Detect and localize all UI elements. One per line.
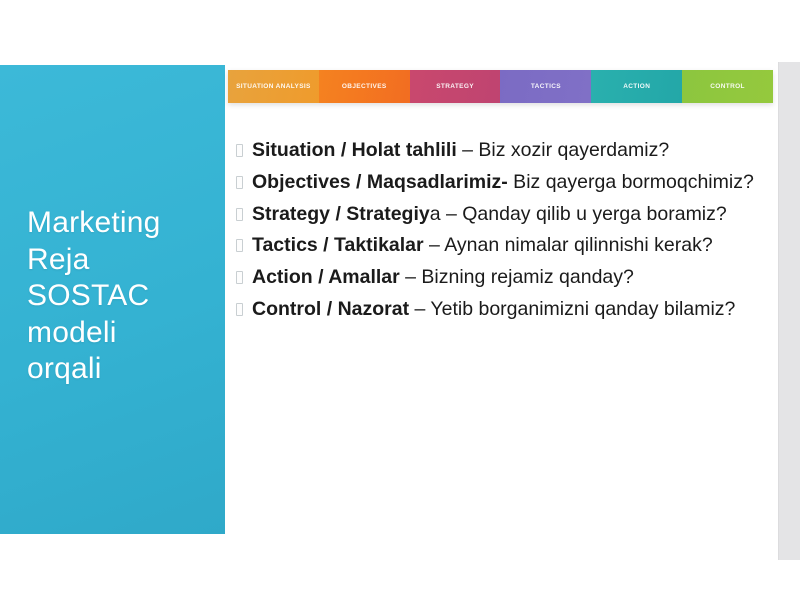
right-side-strip <box>778 62 800 560</box>
ribbon-segment-tactics: TACTICS <box>500 70 591 103</box>
ribbon-segment-strategy: STRATEGY <box>410 70 501 103</box>
ribbon-segment-label: CONTROL <box>710 83 745 90</box>
list-item-text: Strategy / Strategiya – Qanday qilib u y… <box>252 202 774 227</box>
list-item-term: Situation / Holat tahlili <box>252 139 457 161</box>
bullet-marker-icon <box>236 176 243 189</box>
list-item-description: Biz qayerga bormoqchimiz? <box>508 171 754 193</box>
bullet-marker-icon <box>236 271 243 284</box>
list-item-term: Control / Nazorat <box>252 298 409 320</box>
ribbon-segment-label: OBJECTIVES <box>342 83 387 90</box>
slide-title-panel: Marketing Reja SOSTAC modeli orqali <box>0 65 225 534</box>
list-item-description: – Aynan nimalar qilinnishi kerak? <box>424 234 713 256</box>
list-item-text: Control / Nazorat – Yetib borganimizni q… <box>252 297 774 322</box>
presentation-slide: Marketing Reja SOSTAC modeli orqali SITU… <box>0 0 800 600</box>
list-item: Tactics / Taktikalar – Aynan nimalar qil… <box>236 233 774 258</box>
ribbon-segment-objectives: OBJECTIVES <box>319 70 410 103</box>
ribbon-segment-label: SITUATION ANALYSIS <box>236 83 311 90</box>
ribbon-segment-action: ACTION <box>591 70 682 103</box>
list-item-description: – Biz xozir qayerdamiz? <box>457 139 669 161</box>
list-item-description: a – Qanday qilib u yerga boramiz? <box>430 203 727 225</box>
list-item-term: Objectives / Maqsadlarimiz- <box>252 171 508 193</box>
list-item-term: Tactics / Taktikalar <box>252 234 424 256</box>
bullet-marker-icon <box>236 303 243 316</box>
list-item-description: – Yetib borganimizni qanday bilamiz? <box>409 298 735 320</box>
list-item: Strategy / Strategiya – Qanday qilib u y… <box>236 202 774 227</box>
ribbon-segment-control: CONTROL <box>682 70 773 103</box>
list-item: Objectives / Maqsadlarimiz- Biz qayerga … <box>236 170 774 195</box>
list-item: Situation / Holat tahlili – Biz xozir qa… <box>236 138 774 163</box>
ribbon-segment-label: STRATEGY <box>436 83 474 90</box>
list-item-text: Objectives / Maqsadlarimiz- Biz qayerga … <box>252 170 774 195</box>
ribbon-segment-situation-analysis: SITUATION ANALYSIS <box>228 70 319 103</box>
bullet-marker-icon <box>236 239 243 252</box>
list-item-term: Action / Amallar <box>252 266 400 288</box>
ribbon-segment-label: TACTICS <box>531 83 561 90</box>
sostac-ribbon: SITUATION ANALYSISOBJECTIVESSTRATEGYTACT… <box>228 70 773 103</box>
list-item: Control / Nazorat – Yetib borganimizni q… <box>236 297 774 322</box>
list-item: Action / Amallar – Bizning rejamiz qanda… <box>236 265 774 290</box>
list-item-term: Strategy / Strategiy <box>252 203 430 225</box>
bullet-marker-icon <box>236 144 243 157</box>
list-item-text: Tactics / Taktikalar – Aynan nimalar qil… <box>252 233 774 258</box>
bullet-marker-icon <box>236 208 243 221</box>
sostac-bullet-list: Situation / Holat tahlili – Biz xozir qa… <box>236 138 774 329</box>
page-title: Marketing Reja SOSTAC modeli orqali <box>27 205 215 388</box>
list-item-description: – Bizning rejamiz qanday? <box>400 266 634 288</box>
ribbon-segment-label: ACTION <box>623 83 650 90</box>
list-item-text: Situation / Holat tahlili – Biz xozir qa… <box>252 138 774 163</box>
list-item-text: Action / Amallar – Bizning rejamiz qanda… <box>252 265 774 290</box>
